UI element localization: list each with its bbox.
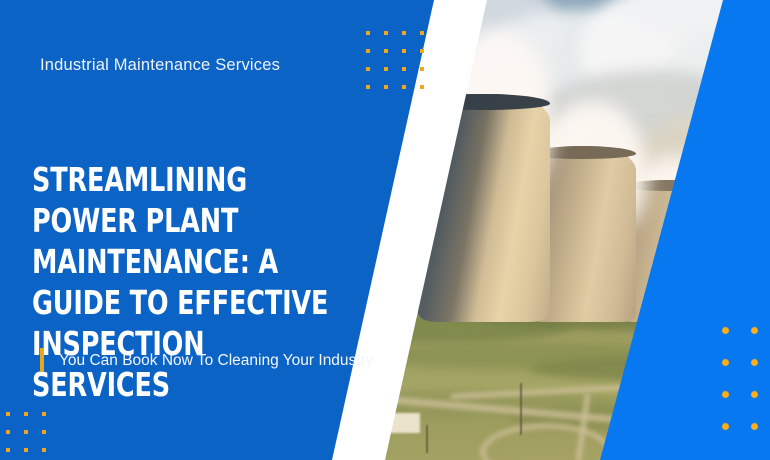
dot [42,448,46,452]
dot [6,412,10,416]
dot [420,31,424,35]
dot [420,67,424,71]
dot [722,423,729,430]
tagline-text: You Can Book Now To Cleaning Your Indust… [59,348,374,372]
dot [751,327,758,334]
dot [42,430,46,434]
utility-pole [520,383,522,435]
dot [420,49,424,53]
dot [722,327,729,334]
dot [384,67,388,71]
dot [722,359,729,366]
eyebrow-text: Industrial Maintenance Services [40,54,290,77]
dot [24,430,28,434]
gold-accent-bar [40,348,44,372]
utility-pole [426,425,428,453]
dot [6,448,10,452]
dot [402,85,406,89]
dot [402,49,406,53]
dot [420,85,424,89]
dot [6,430,10,434]
dot-grid-bottom-left [0,412,46,460]
dot [24,448,28,452]
dot [402,31,406,35]
dot-grid-top [366,31,424,89]
dot [366,85,370,89]
dot [751,359,758,366]
dot [366,49,370,53]
promo-banner: Industrial Maintenance Services Streamli… [0,0,770,460]
dot [402,67,406,71]
dot [722,391,729,398]
dot [751,423,758,430]
dot [24,412,28,416]
tagline-group: You Can Book Now To Cleaning Your Indust… [40,348,374,372]
dot [366,31,370,35]
dot-grid-right [722,327,758,430]
dot [384,49,388,53]
dot [751,391,758,398]
dot [42,412,46,416]
dot [384,85,388,89]
dot [384,31,388,35]
dot [366,67,370,71]
